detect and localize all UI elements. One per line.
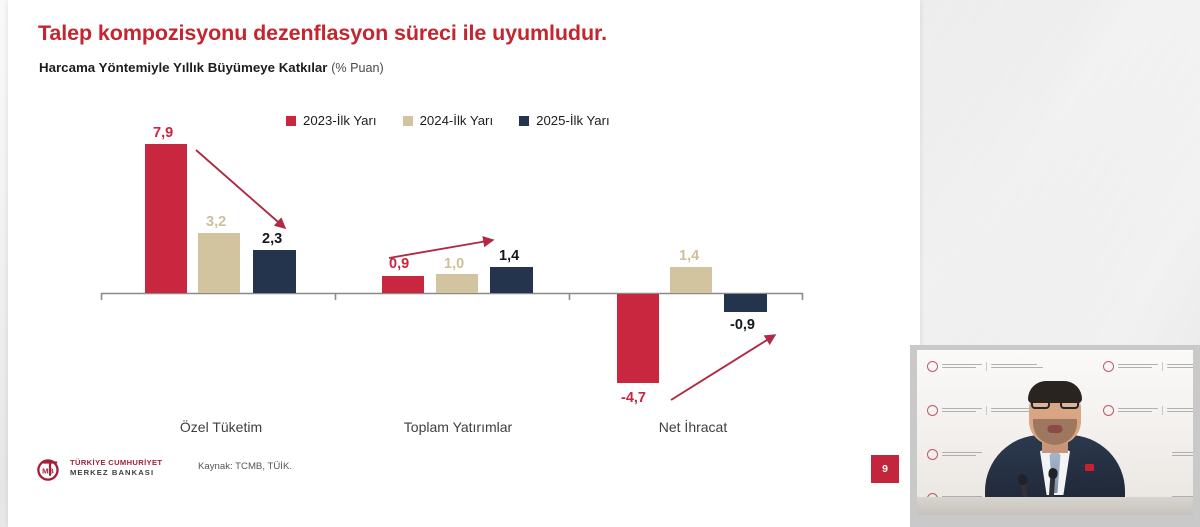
page-title: Talep kompozisyonu dezenflasyon süreci i… [38, 21, 607, 46]
trend-arrow-up-toplam-yatirimlar [389, 240, 493, 258]
bar-chart-plot: 7,9 3,2 2,3 0,9 1,0 1,4 -4,7 1,4 -0,9 Öz… [8, 0, 920, 527]
speaker-hair [1028, 381, 1082, 403]
trend-arrow-down-ozel-tuketim [196, 150, 285, 228]
svg-text:MB: MB [42, 466, 54, 475]
category-label-net-ihracat: Net İhracat [610, 419, 776, 435]
backdrop-divider [1162, 406, 1163, 415]
value-label-ozel-tuketim-2024: 3,2 [206, 214, 226, 230]
trend-arrow-up-net-ihracat [671, 335, 775, 400]
value-label-ozel-tuketim-2023: 7,9 [153, 125, 173, 141]
legend-label-2023: 2023-İlk Yarı [303, 113, 377, 128]
backdrop-watermark [927, 358, 1043, 374]
legend-label-2024: 2024-İlk Yarı [420, 113, 494, 128]
bar-toplam-yatirimlar-2023[interactable] [382, 276, 424, 293]
backdrop-logo-icon [927, 405, 938, 416]
legend-label-2025: 2025-İlk Yarı [536, 113, 610, 128]
bar-net-ihracat-2025[interactable] [724, 294, 767, 312]
bar-net-ihracat-2023[interactable] [617, 294, 659, 383]
backdrop-watermark [1103, 358, 1193, 374]
bar-ozel-tuketim-2023[interactable] [145, 144, 187, 293]
bar-ozel-tuketim-2025[interactable] [253, 250, 296, 293]
category-label-toplam-yatirimlar: Toplam Yatırımlar [375, 419, 541, 435]
backdrop-divider [1162, 362, 1163, 371]
bar-toplam-yatirimlar-2024[interactable] [436, 274, 478, 293]
presentation-slide: Talep kompozisyonu dezenflasyon süreci i… [8, 0, 920, 527]
tcmb-logo-line1: TÜRKİYE CUMHURİYET [70, 458, 162, 468]
backdrop-text-lines [1172, 452, 1193, 457]
tcmb-logo-icon: MB [36, 455, 64, 481]
legend-item-2025[interactable]: 2025-İlk Yarı [519, 113, 610, 128]
bar-net-ihracat-2024[interactable] [670, 267, 712, 293]
podium [917, 497, 1193, 515]
legend-swatch-2025 [519, 116, 529, 126]
video-pip-panel[interactable] [910, 345, 1200, 527]
speaker-mouth [1048, 425, 1063, 433]
page-number-badge: 9 [871, 455, 899, 483]
speaker-lapel-pin-icon [1085, 464, 1094, 471]
backdrop-text-lines [1118, 408, 1158, 413]
legend-swatch-2024 [403, 116, 413, 126]
backdrop-watermark-row [917, 358, 1193, 374]
value-label-ozel-tuketim-2025: 2,3 [262, 231, 282, 247]
legend-swatch-2023 [286, 116, 296, 126]
chart-subtitle: Harcama Yöntemiyle Yıllık Büyümeye Katkı… [39, 60, 384, 75]
backdrop-watermark [1172, 446, 1193, 462]
backdrop-text-lines [1167, 364, 1193, 369]
value-label-net-ihracat-2024: 1,4 [679, 248, 699, 264]
source-note: Kaynak: TCMB, TÜİK. [198, 461, 292, 472]
tcmb-logo-text: TÜRKİYE CUMHURİYET MERKEZ BANKASI [70, 458, 162, 479]
backdrop-text-lines [942, 452, 982, 457]
backdrop-text-lines [942, 364, 982, 369]
backdrop-watermark [1103, 402, 1193, 418]
chart-legend: 2023-İlk Yarı 2024-İlk Yarı 2025-İlk Yar… [286, 113, 610, 128]
chart-subtitle-unit: (% Puan) [331, 61, 384, 75]
backdrop-logo-icon [927, 361, 938, 372]
backdrop-text-lines [1118, 364, 1158, 369]
backdrop-watermark [927, 402, 1043, 418]
bar-toplam-yatirimlar-2025[interactable] [490, 267, 533, 293]
value-label-toplam-yatirimlar-2024: 1,0 [444, 256, 464, 272]
backdrop-watermark [927, 446, 982, 462]
backdrop-divider [986, 406, 987, 415]
legend-item-2023[interactable]: 2023-İlk Yarı [286, 113, 377, 128]
backdrop-logo-icon [1103, 405, 1114, 416]
video-frame [917, 350, 1193, 515]
tcmb-logo-line2: MERKEZ BANKASI [70, 468, 162, 478]
tcmb-logo: MB TÜRKİYE CUMHURİYET MERKEZ BANKASI [36, 455, 162, 481]
backdrop-logo-icon [1103, 361, 1114, 372]
chart-subtitle-main: Harcama Yöntemiyle Yıllık Büyümeye Katkı… [39, 60, 328, 75]
bar-ozel-tuketim-2024[interactable] [198, 233, 240, 293]
backdrop-text-lines [1167, 408, 1193, 413]
legend-item-2024[interactable]: 2024-İlk Yarı [403, 113, 494, 128]
value-label-net-ihracat-2025: -0,9 [730, 317, 755, 333]
value-label-toplam-yatirimlar-2025: 1,4 [499, 248, 519, 264]
chart-axis-svg [8, 0, 920, 527]
backdrop-text-lines [991, 364, 1043, 369]
value-label-net-ihracat-2023: -4,7 [621, 390, 646, 406]
value-label-toplam-yatirimlar-2023: 0,9 [389, 256, 409, 272]
screen: Talep kompozisyonu dezenflasyon süreci i… [0, 0, 1200, 527]
backdrop-logo-icon [927, 449, 938, 460]
backdrop-text-lines [942, 408, 982, 413]
category-label-ozel-tuketim: Özel Tüketim [138, 419, 304, 435]
backdrop-divider [986, 362, 987, 371]
